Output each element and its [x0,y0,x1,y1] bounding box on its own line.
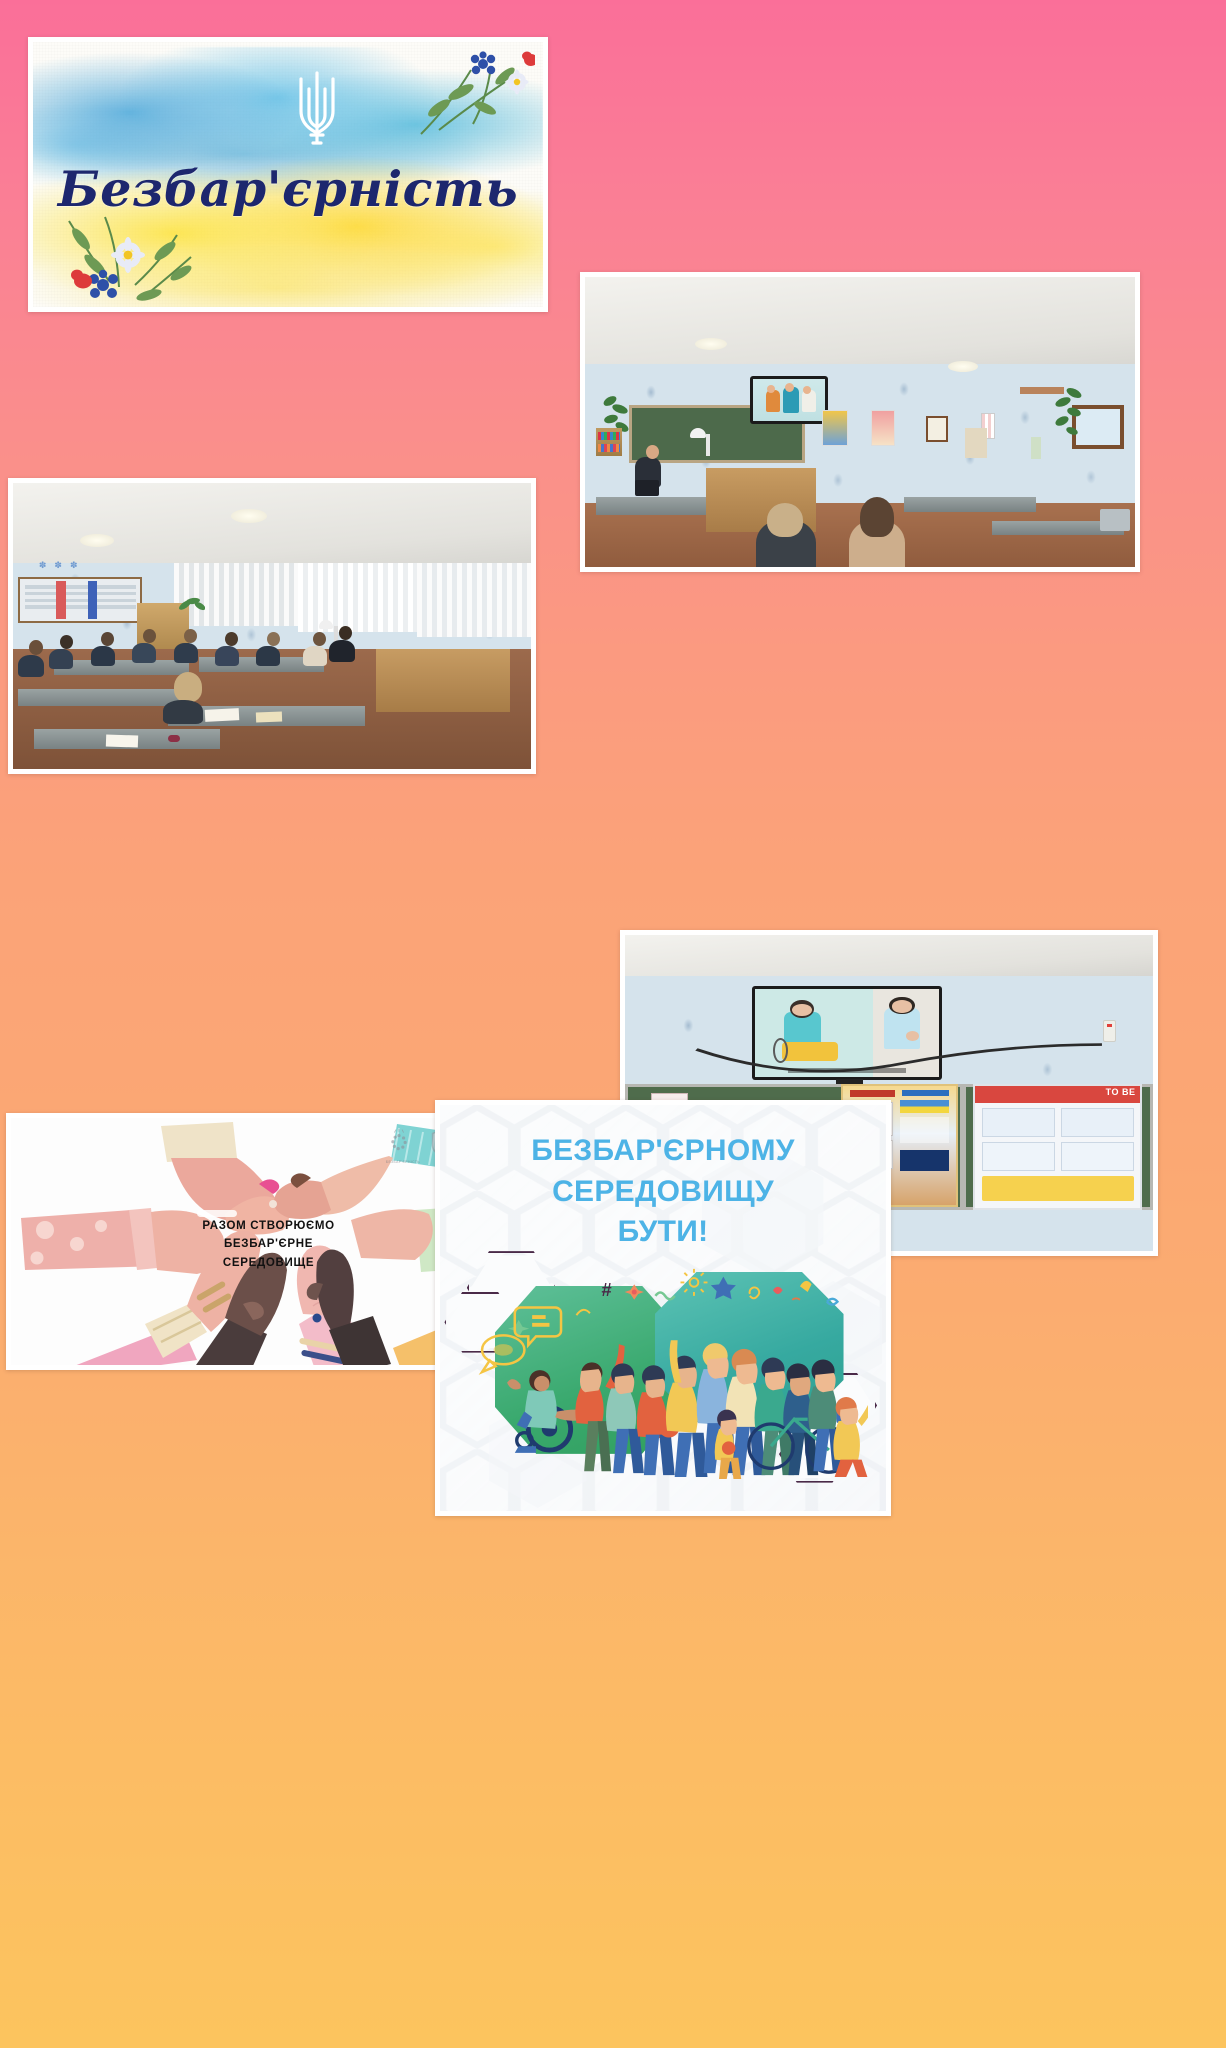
laptop [1100,509,1130,531]
ceiling [13,483,531,569]
desk-lamp-shade [690,428,706,438]
plant-icon [1046,387,1086,439]
window-blinds [417,563,531,637]
person-head [646,445,659,459]
desk [904,497,1036,512]
wall-poster-to-be: TO BE [973,1084,1142,1210]
ceiling [585,277,1135,376]
laptop [635,480,659,496]
flower-cluster-top-right [415,48,535,140]
notebook [204,708,239,722]
plant-icon [179,595,205,615]
person-head [29,640,43,655]
doorway [965,428,987,458]
tv-screen [753,379,825,421]
banner-title: Безбар'єрність [33,160,543,218]
hands-poster-line-2: БЕЗБАР'ЄРНЕ [167,1235,369,1254]
person-attendee [49,649,73,669]
hands-poster-line-1: РАЗОМ СТВОРЮЄМО [167,1217,369,1236]
person-head [143,629,156,643]
lectern [376,649,511,712]
poster-bottom-title: БЕЗБАР'ЄРНОМУ СЕРЕДОВИЩУ БУТИ! [440,1131,886,1252]
ceiling-lamp-icon [231,509,267,523]
person-hair [174,672,202,702]
paper-sheet [256,711,282,722]
wall-poster [822,410,848,446]
doorway [1031,437,1041,459]
person-attendee [303,646,327,666]
poster-hands-heart: БЕЗБАР'ЄРНІСТЬ РАЗОМ СТВОРЮЄМО БЕЗБАР'ЄР… [6,1113,476,1370]
people-group-icons: # [458,1267,868,1494]
person-head [60,635,73,649]
wall-chart [18,577,142,623]
photo-classroom-audience-seated: ✽✽✽ [8,478,536,774]
person-student-front [163,700,203,724]
svg-text:#: # [601,1279,611,1300]
bookshelf [596,428,622,456]
cable [688,1030,1110,1093]
person-presenter-standing [329,640,355,662]
desk [18,689,184,706]
crowd-illustration: # [458,1267,868,1494]
snowflake-decor: ✽✽✽ [39,560,95,569]
ukrainian-trident-icon [291,63,343,155]
person-head [267,632,280,646]
ceiling-lamp-icon [695,338,727,350]
person-hair [767,503,803,537]
photo-classroom-lecture-presenter [580,272,1140,572]
desk-lamp-arm [706,434,710,456]
flower-cluster-bottom-left [61,207,201,303]
ceiling [625,935,1153,979]
desk [54,660,189,674]
person-attendee [91,646,115,666]
person-attendee [18,655,44,677]
poster-bottom-line-2: СЕРЕДОВИЩУ [440,1172,886,1212]
hands-poster-line-3: СЕРЕДОВИЩЕ [167,1254,369,1273]
notebook [106,734,138,747]
person-attendee [256,646,280,666]
person-head [184,629,197,643]
poster-bottom-line-3: БУТИ! [440,1212,886,1252]
person-attendee [132,643,156,663]
wall-poster [926,416,948,442]
barrier-free-banner: Безбар'єрність [28,37,548,312]
bezbariernist-logo-caption: БЕЗБАР'ЄРНІСТЬ [386,1160,420,1164]
poster-bottom-line-1: БЕЗБАР'ЄРНОМУ [440,1131,886,1171]
hands-poster-text: РАЗОМ СТВОРЮЄМО БЕЗБАР'ЄРНЕ СЕРЕДОВИЩЕ [167,1217,369,1273]
person-attendee [174,643,198,663]
wall-tv [750,376,828,424]
wall-poster [871,410,895,446]
window-blinds [298,563,417,632]
keychain [168,735,180,742]
poster-barrier-free-environment: БЕЗБАР'ЄРНОМУ СЕРЕДОВИЩУ БУТИ! # [435,1100,891,1516]
person-head [101,632,114,646]
bezbariernist-logo: БЕЗБАР'ЄРНІСТЬ [386,1128,420,1164]
person-attendee [215,646,239,666]
desk-lamp-shade [319,620,333,629]
person-hair [860,497,894,537]
